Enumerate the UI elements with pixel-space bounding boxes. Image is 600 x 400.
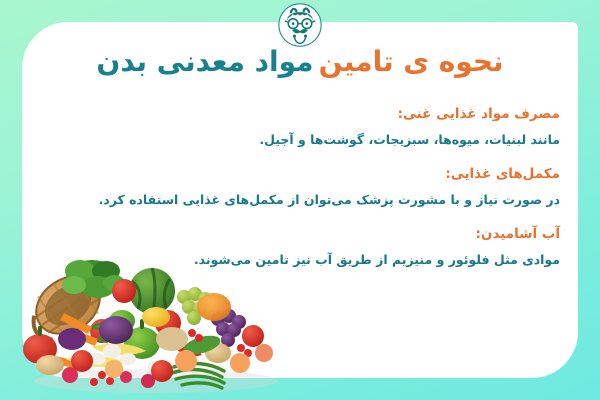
- section-heading: مصرف مواد غذایی غنی:: [40, 104, 560, 124]
- title-part-teal: مواد معدنی بدن: [96, 45, 313, 78]
- section-body: موادی مثل فلوئور و منیزیم از طریق آب نیز…: [40, 251, 560, 270]
- section-heading: مکمل‌های غذایی:: [40, 164, 560, 184]
- section-body: مانند لبنیات، میوه‌ها، سبزیجات، گوشت‌ها …: [40, 131, 560, 150]
- section-drinking-water: آب آشامیدن: موادی مثل فلوئور و منیزیم از…: [40, 224, 560, 270]
- infographic-card: نحوه ی تامین مواد معدنی بدن مصرف مواد غذ…: [0, 0, 600, 400]
- title-part-orange: نحوه ی تامین: [319, 45, 504, 78]
- page-title: نحوه ی تامین مواد معدنی بدن: [0, 47, 600, 78]
- sections-list: مصرف مواد غذایی غنی: مانند لبنیات، میوه‌…: [40, 104, 560, 284]
- section-rich-foods: مصرف مواد غذایی غنی: مانند لبنیات، میوه‌…: [40, 104, 560, 150]
- section-heading: آب آشامیدن:: [40, 224, 560, 244]
- section-supplements: مکمل‌های غذایی: در صورت نیاز و با مشورت …: [40, 164, 560, 210]
- section-body: در صورت نیاز و با مشورت پزشک می‌توان از …: [40, 191, 560, 210]
- mascot-logo: [277, 2, 323, 48]
